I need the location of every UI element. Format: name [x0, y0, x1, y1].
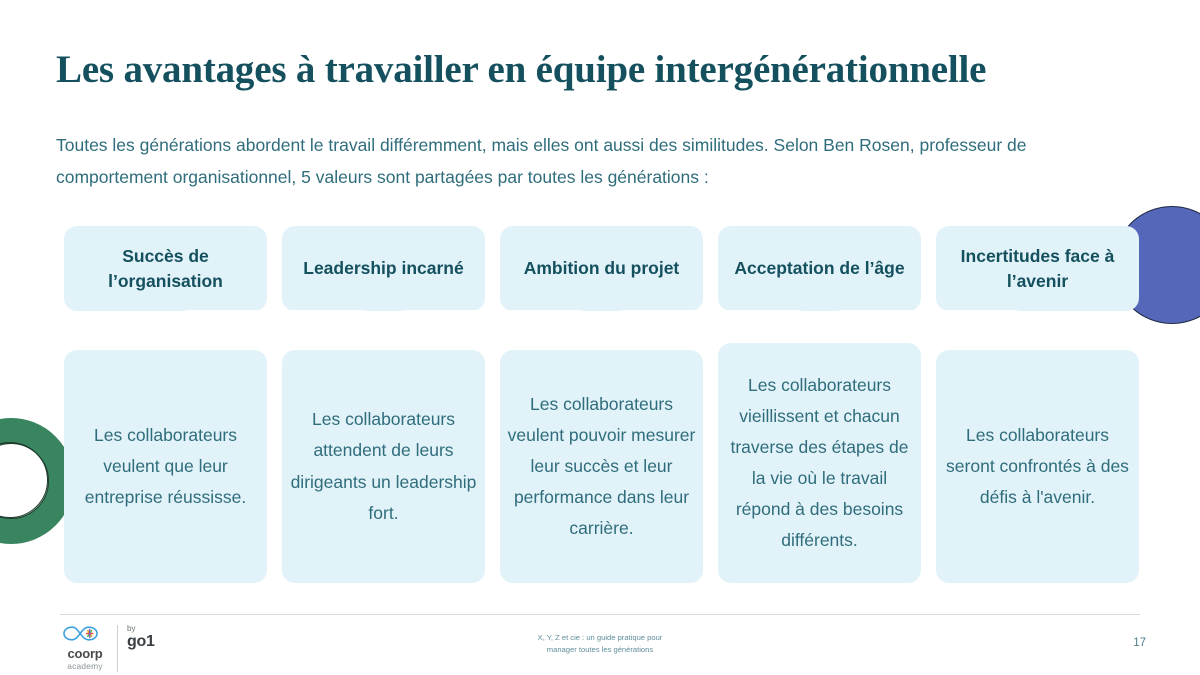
page-subtitle: Toutes les générations abordent le trava…: [56, 130, 1116, 194]
value-card-body: Les collaborateurs veulent que leur entr…: [64, 350, 267, 583]
footer-title-line-1: X, Y, Z et cie : un guide pratique pour: [0, 632, 1200, 644]
value-column: Ambition du projet Les collaborateurs ve…: [500, 226, 703, 586]
value-card-heading-text: Leadership incarné: [303, 256, 463, 281]
value-card-body-text: Les collaborateurs seront confrontés à d…: [943, 420, 1132, 513]
card-notch-left: [266, 310, 376, 343]
value-card-grid: Succès de l’organisation Les collaborate…: [64, 226, 1139, 586]
slide-canvas: Les avantages à travailler en équipe int…: [0, 0, 1200, 675]
value-card-heading-text: Ambition du projet: [524, 256, 680, 281]
value-card-heading-text: Acceptation de l’âge: [734, 256, 904, 281]
coorp-academy-label: academy: [67, 661, 102, 672]
card-notch-left: [920, 310, 1030, 343]
page-number: 17: [1133, 637, 1146, 649]
value-column: Acceptation de l’âge Les collaborateurs …: [718, 226, 921, 586]
value-card-body-text: Les collaborateurs vieillissent et chacu…: [725, 370, 914, 557]
footer-title-line-2: manager toutes les générations: [0, 644, 1200, 656]
value-card-heading: Succès de l’organisation: [64, 226, 267, 311]
value-card-heading: Ambition du projet: [500, 226, 703, 311]
value-card-heading: Incertitudes face à l’avenir: [936, 226, 1139, 311]
value-card-body-text: Les collaborateurs attendent de leurs di…: [289, 404, 478, 529]
value-column: Succès de l’organisation Les collaborate…: [64, 226, 267, 586]
value-column: Incertitudes face à l’avenir Les collabo…: [936, 226, 1139, 586]
value-column: Leadership incarné Les collaborateurs at…: [282, 226, 485, 586]
value-card-heading: Acceptation de l’âge: [718, 226, 921, 311]
value-card-body-text: Les collaborateurs veulent que leur entr…: [71, 420, 260, 513]
value-card-body-text: Les collaborateurs veulent pouvoir mesur…: [507, 389, 696, 545]
value-card-heading: Leadership incarné: [282, 226, 485, 311]
value-card-body: Les collaborateurs veulent pouvoir mesur…: [500, 350, 703, 583]
value-card-body: Les collaborateurs seront confrontés à d…: [936, 350, 1139, 583]
value-card-body: Les collaborateurs vieillissent et chacu…: [718, 343, 921, 583]
value-card-heading-text: Incertitudes face à l’avenir: [944, 244, 1131, 294]
page-title: Les avantages à travailler en équipe int…: [56, 48, 1136, 93]
card-notch-left: [484, 310, 594, 343]
decorative-green-ring: [0, 418, 74, 544]
footer-divider: [60, 614, 1140, 615]
footer-document-title: X, Y, Z et cie : un guide pratique pour …: [0, 632, 1200, 656]
card-notch-left: [702, 310, 812, 343]
value-card-heading-text: Succès de l’organisation: [72, 244, 259, 294]
value-card-body: Les collaborateurs attendent de leurs di…: [282, 350, 485, 583]
slide-footer: coorp academy by go1 X, Y, Z et cie : un…: [0, 620, 1200, 675]
